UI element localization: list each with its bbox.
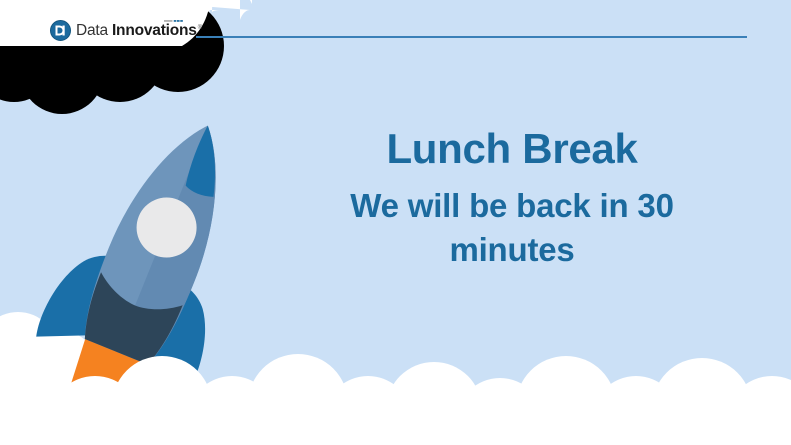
- data-innovations-logo: Data Innovations ®: [50, 20, 202, 41]
- header-divider-rule: [196, 36, 747, 38]
- di-monogram-icon: [50, 20, 71, 41]
- logo-word-data: Data: [76, 23, 108, 39]
- page-subtitle: We will be back in 30 minutes: [286, 184, 738, 273]
- logo-trademark-symbol: ®: [198, 25, 202, 31]
- message-block: Lunch Break We will be back in 30 minute…: [286, 124, 738, 273]
- page-title: Lunch Break: [286, 124, 738, 174]
- logo-word-innovations: Innovations: [112, 23, 197, 39]
- lunch-break-slide: Data Innovations ® Lunch Break We will b…: [0, 0, 791, 445]
- logo-wordmark: Data Innovations ®: [76, 23, 202, 39]
